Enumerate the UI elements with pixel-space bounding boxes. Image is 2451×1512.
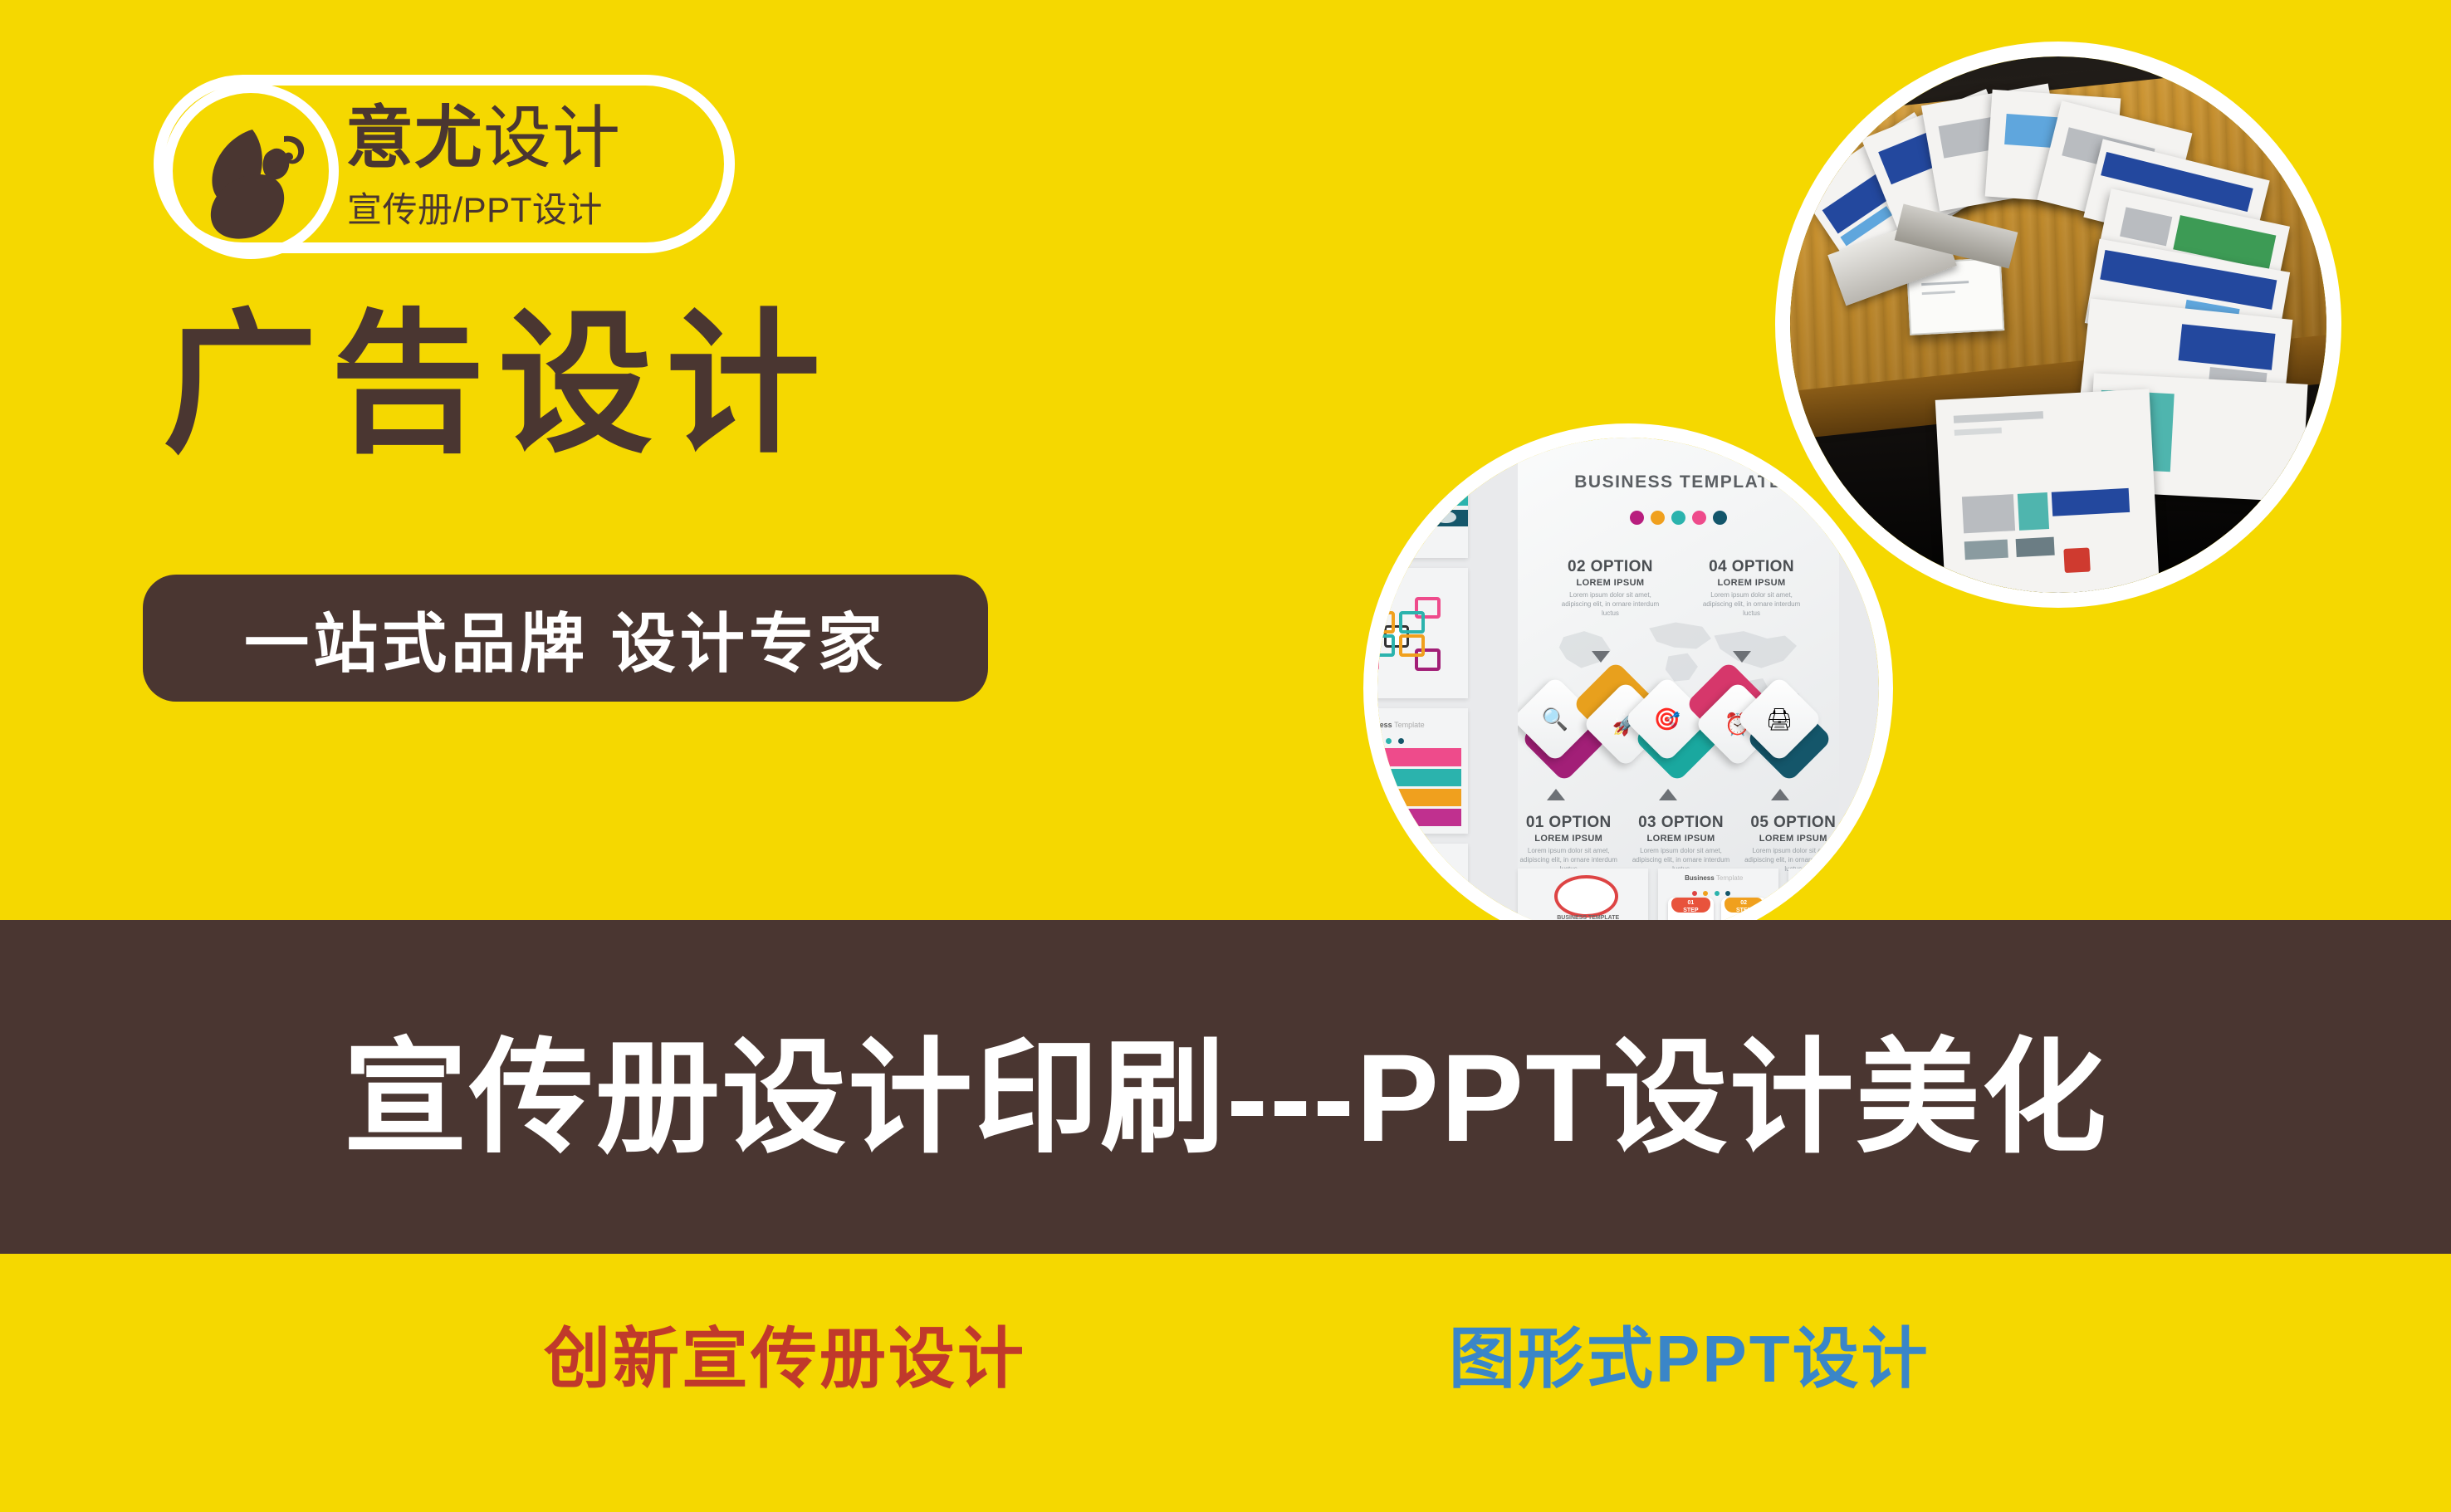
option-desc: Lorem ipsum dolor sit amet, adipiscing e… [1698, 590, 1806, 618]
logo-text-block: 意尤设计 宣传册/PPT设计 [345, 95, 736, 253]
list-item: 02 OPTION LOREM IPSUM Lorem ipsum dolor … [1556, 558, 1664, 618]
printer-icon: 🖨 [1749, 688, 1810, 750]
magnifier-icon: 🔍 [1524, 688, 1586, 750]
brand-logo[interactable]: 意尤设计 宣传册/PPT设计 [154, 75, 735, 253]
option-number: 03 OPTION [1627, 814, 1735, 832]
list-item: 05 OPTION LOREM IPSUM Lorem ipsum dolor … [1739, 814, 1839, 873]
list-item: 03 OPTION LOREM IPSUM Lorem ipsum dolor … [1627, 814, 1735, 873]
main-banner-bar: 宣传册设计印刷---PPT设计美化 [0, 920, 2451, 1254]
page-title: 广告设计 [163, 297, 834, 473]
list-item: 01 OPTION LOREM IPSUM Lorem ipsum dolor … [1518, 814, 1622, 873]
list-item [1377, 568, 1468, 698]
option-lorem: LOREM IPSUM [1556, 578, 1664, 588]
printed-brochures-photo-circle [1775, 42, 2341, 608]
ad-banner-canvas: 意尤设计 宣传册/PPT设计 广告设计 一站式品牌 设计专家 [0, 0, 2451, 1512]
footer-tag-ppt: 图形式PPT设计 [1449, 1305, 1930, 1402]
logo-name-thin: 设计 [483, 100, 621, 176]
option-lorem: LOREM IPSUM [1518, 834, 1622, 844]
list-item [1935, 389, 2160, 593]
option-number: 01 OPTION [1518, 814, 1622, 832]
footer-tag-brochure: 创新宣传册设计 [544, 1305, 1026, 1402]
seed-bird-mark-icon [204, 123, 317, 241]
main-banner-label: 宣传册设计印刷---PPT设计美化 [0, 920, 2451, 1254]
logo-name: 意尤设计 [345, 95, 621, 182]
logo-name-bold: 意尤 [345, 100, 483, 176]
tagline-badge: 一站式品牌 设计专家 [143, 575, 988, 702]
list-item: Business Template [1377, 708, 1468, 834]
option-lorem: LOREM IPSUM [1739, 834, 1839, 844]
tagline-badge-label: 一站式品牌 设计专家 [244, 592, 887, 685]
option-number: 02 OPTION [1556, 558, 1664, 576]
option-lorem: LOREM IPSUM [1627, 834, 1735, 844]
list-item [1377, 438, 1468, 558]
option-desc: Lorem ipsum dolor sit amet, adipiscing e… [1556, 590, 1664, 618]
target-icon: 🎯 [1636, 688, 1698, 750]
option-number: 05 OPTION [1739, 814, 1839, 832]
footer-tag-row: 创新宣传册设计 图形式PPT设计 [0, 1254, 2451, 1512]
logo-subtitle: 宣传册/PPT设计 [347, 188, 603, 232]
logo-mark-ring [163, 83, 339, 259]
